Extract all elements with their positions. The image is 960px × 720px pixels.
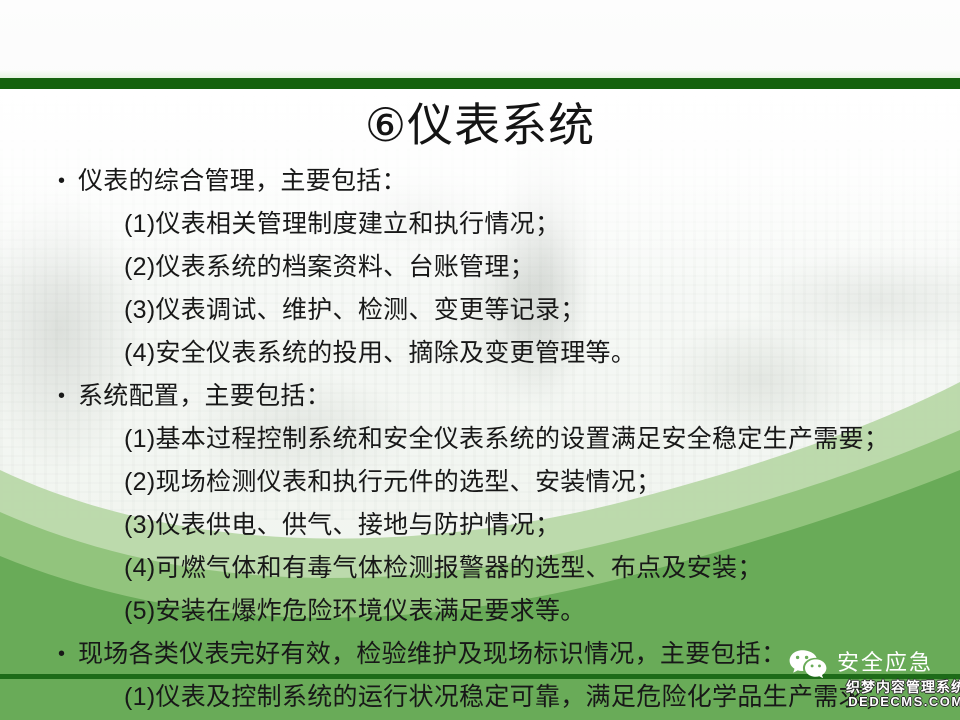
wechat-badge: 安全应急 [788, 648, 933, 678]
bullet-item-1-label: 仪表的综合管理，主要包括： [78, 167, 407, 195]
bullet-item-2-label: 系统配置，主要包括： [78, 382, 331, 410]
watermark-cn-text: 织梦内容管理系统 [846, 680, 960, 695]
sub-item-2-3: (3)仪表供电、供气、接地与防护情况； [52, 504, 932, 547]
bullet-marker-icon: • [58, 375, 65, 418]
bullet-item-3-label: 现场各类仪表完好有效，检验维护及现场标识情况，主要包括： [78, 640, 786, 668]
watermark-en-text: DEDECMS.COM [846, 695, 960, 709]
bullet-marker-icon: • [58, 633, 65, 676]
sub-item-1-1: (1)仪表相关管理制度建立和执行情况； [52, 203, 932, 246]
bullet-marker-icon: • [58, 160, 65, 203]
sub-item-2-1: (1)基本过程控制系统和安全仪表系统的设置满足安全稳定生产需要； [52, 418, 932, 461]
dedecms-watermark: 织梦内容管理系统 DEDECMS.COM [846, 680, 960, 708]
sub-item-2-4: (4)可燃气体和有毒气体检测报警器的选型、布点及安装； [52, 547, 932, 590]
bullet-item-2: • 系统配置，主要包括： [52, 375, 932, 418]
slide-canvas: ⑥仪表系统 • 仪表的综合管理，主要包括： (1)仪表相关管理制度建立和执行情况… [0, 0, 960, 720]
sub-item-2-2: (2)现场检测仪表和执行元件的选型、安装情况； [52, 461, 932, 504]
slide-body: • 仪表的综合管理，主要包括： (1)仪表相关管理制度建立和执行情况； (2)仪… [52, 160, 932, 720]
sub-item-1-2: (2)仪表系统的档案资料、台账管理； [52, 246, 932, 289]
sub-item-1-4: (4)安全仪表系统的投用、摘除及变更管理等。 [52, 332, 932, 375]
page-title: ⑥仪表系统 [0, 96, 960, 154]
bullet-item-1: • 仪表的综合管理，主要包括： [52, 160, 932, 203]
sub-item-3-1: (1)仪表及控制系统的运行状况稳定可靠，满足危险化学品生产需求； [52, 676, 932, 719]
sub-item-2-5: (5)安装在爆炸危险环境仪表满足要求等。 [52, 590, 932, 633]
wechat-icon [788, 648, 828, 678]
wechat-label: 安全应急 [837, 650, 933, 676]
sub-item-1-3: (3)仪表调试、维护、检测、变更等记录； [52, 289, 932, 332]
